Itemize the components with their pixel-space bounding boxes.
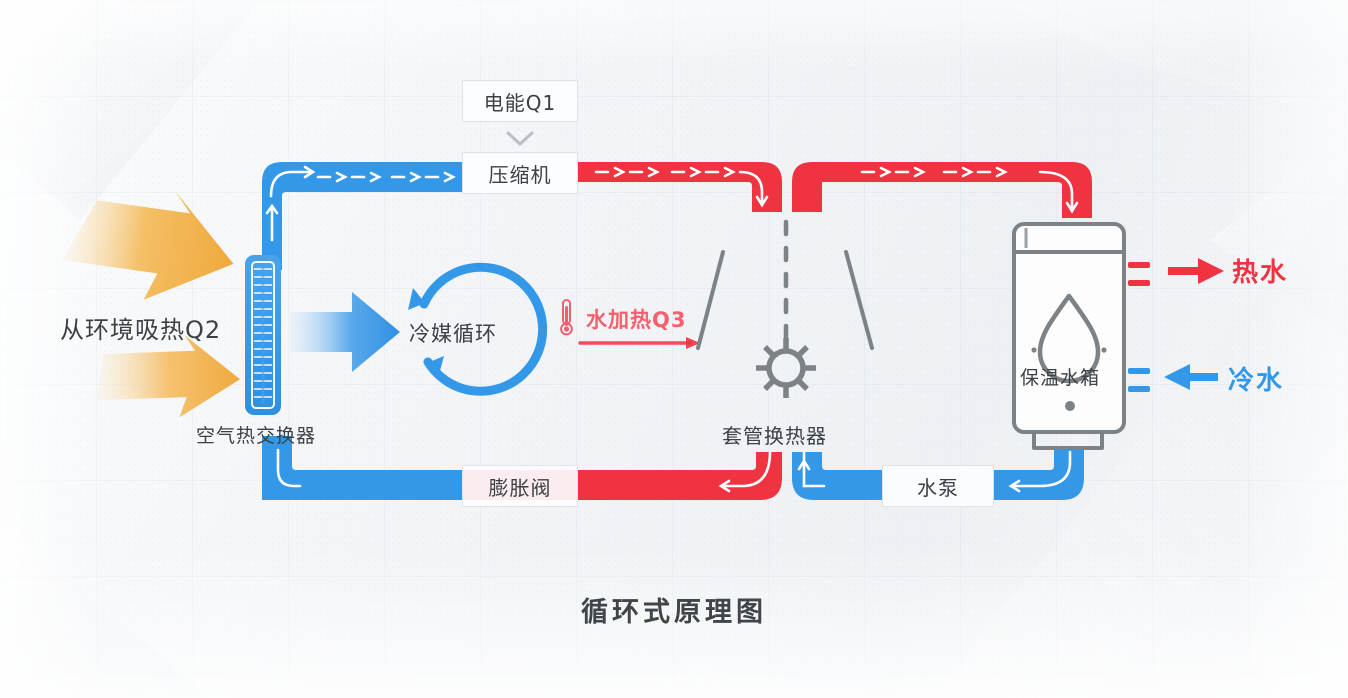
label-cold-water: 冷水 bbox=[1228, 360, 1284, 397]
box-electric-energy-label: 电能Q1 bbox=[484, 87, 556, 116]
label-refrigerant-cycle: 冷媒循环 bbox=[409, 318, 497, 348]
diagram-caption: 循环式原理图 bbox=[0, 590, 1348, 629]
label-insulated-water-tank: 保温水箱 bbox=[1020, 363, 1100, 390]
refrigerant-hot-pipe bbox=[462, 162, 1092, 500]
water-tank-icon bbox=[1014, 224, 1124, 448]
box-expansion-valve[interactable]: 膨胀阀 bbox=[462, 465, 578, 507]
label-water-heating: 水加热Q3 bbox=[586, 304, 686, 334]
label-air-heat-exchanger: 空气热交换器 bbox=[196, 421, 316, 448]
refrigerant-flow-arrow bbox=[290, 292, 400, 372]
label-ambient-heat: 从环境吸热Q2 bbox=[60, 310, 221, 345]
box-water-pump[interactable]: 水泵 bbox=[882, 465, 994, 507]
box-compressor-label: 压缩机 bbox=[489, 159, 552, 188]
box-electric-energy[interactable]: 电能Q1 bbox=[462, 80, 578, 122]
water-heating-arrow bbox=[580, 337, 700, 349]
label-coaxial-heat-exchanger: 套管换热器 bbox=[722, 420, 827, 449]
ambient-heat-arrows bbox=[58, 177, 242, 420]
label-hot-water: 热水 bbox=[1232, 252, 1288, 289]
diagram-stage: 电能Q1 压缩机 膨胀阀 水泵 从环境吸热Q2 空气热交换器 冷媒循环 水加热Q… bbox=[0, 0, 1348, 698]
box-expansion-valve-label: 膨胀阀 bbox=[489, 472, 552, 501]
air-heat-exchanger-icon bbox=[245, 255, 281, 415]
box-compressor[interactable]: 压缩机 bbox=[462, 152, 578, 194]
cold-water-port bbox=[1128, 364, 1218, 392]
hot-water-port bbox=[1128, 258, 1224, 286]
box-water-pump-label: 水泵 bbox=[917, 472, 959, 501]
thermometer-icon bbox=[561, 300, 572, 334]
coaxial-heat-exchanger-icon bbox=[698, 222, 872, 398]
chevron-down-icon bbox=[508, 133, 532, 144]
